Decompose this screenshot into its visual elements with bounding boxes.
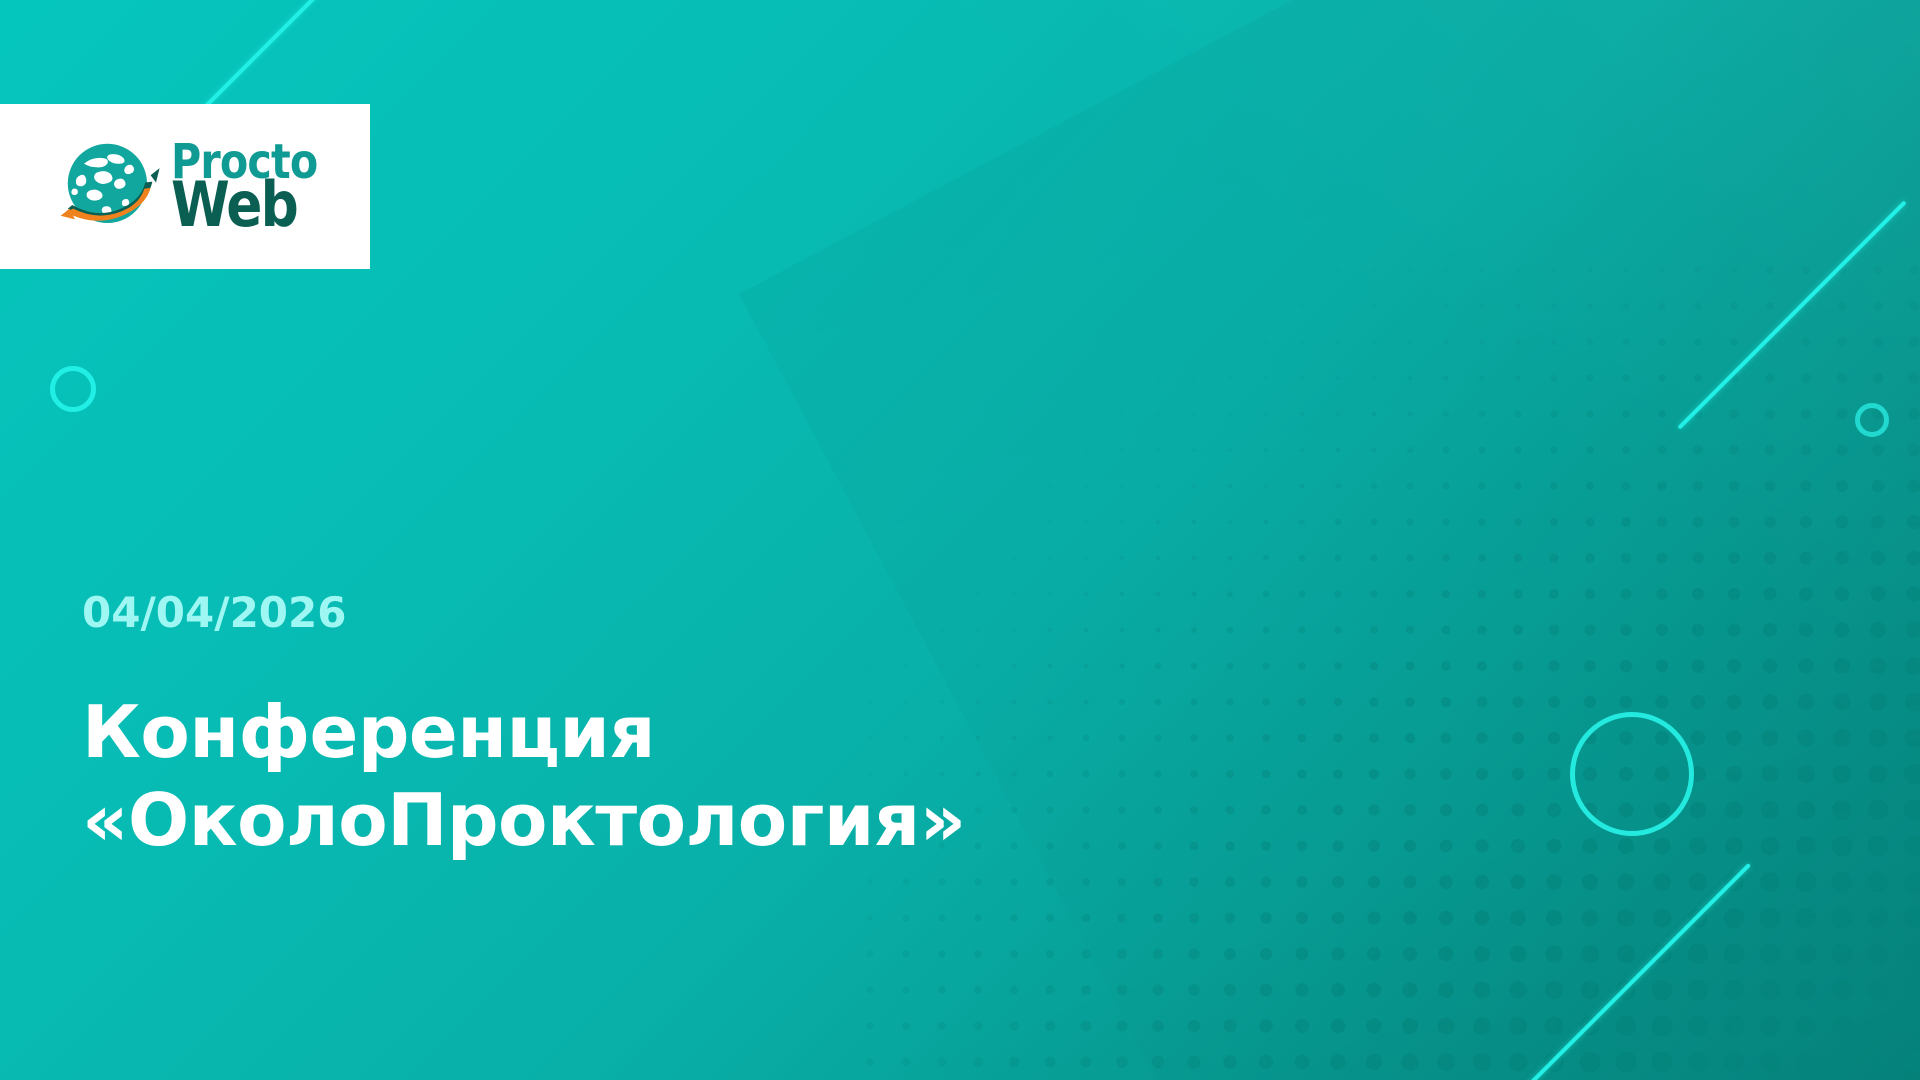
event-date: 04/04/2026	[82, 588, 966, 637]
dot-grid-pattern	[860, 260, 1920, 1080]
circle-outline-large	[1570, 712, 1694, 836]
diagonal-accent-line-top-right	[1677, 200, 1906, 429]
logo-wordmark: Procto Web	[171, 142, 341, 230]
slide-title-line-1: Конференция	[82, 689, 966, 777]
logo-plate: Procto Web	[0, 104, 370, 269]
slide-text-block: 04/04/2026 Конференция «ОколоПроктология…	[82, 588, 966, 865]
diagonal-accent-line-bottom-right	[1437, 863, 1751, 1080]
globe-icon	[57, 133, 165, 241]
presentation-slide: Procto Web 04/04/2026 Конференция «Около…	[0, 0, 1920, 1080]
circle-outline-left	[50, 366, 96, 412]
slide-title: Конференция «ОколоПроктология»	[82, 689, 966, 865]
corner-shade	[899, 179, 1920, 1080]
slide-title-line-2: «ОколоПроктология»	[82, 777, 966, 865]
logo-word-bottom: Web	[171, 179, 317, 231]
circle-outline-right	[1855, 403, 1889, 437]
diagonal-shade-band-upper	[739, 0, 1920, 1080]
